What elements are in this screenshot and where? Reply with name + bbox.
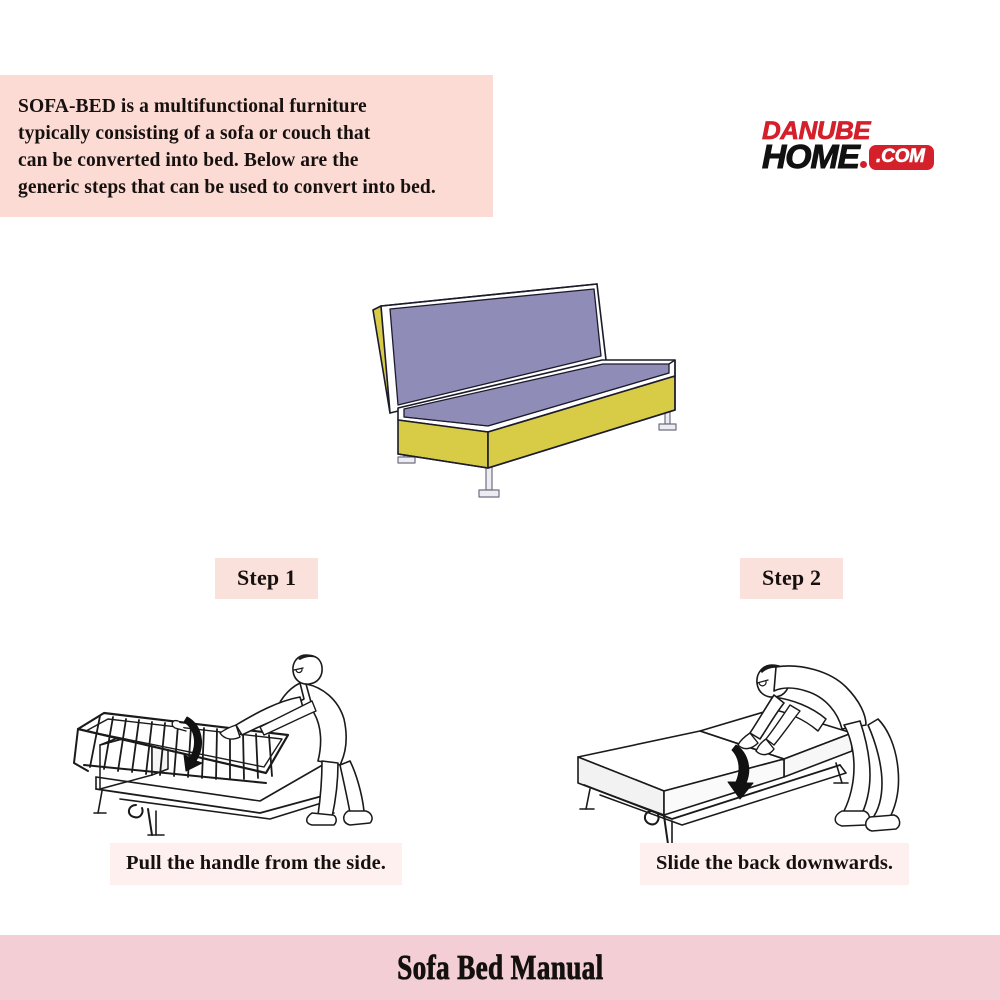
intro-description-text: SOFA-BED is a multifunctional furniture … (0, 93, 493, 201)
danube-home-logo[interactable]: DANUBE HOME .COM (762, 118, 977, 176)
step1-pull-handle-illustration (60, 613, 460, 848)
sofa-bed-open-illustration (340, 268, 710, 513)
manual-page: SOFA-BED is a multifunctional furniture … (0, 0, 1000, 1000)
logo-home-text: HOME (762, 142, 859, 172)
logo-red-dot-icon (860, 161, 867, 168)
intro-description-box: SOFA-BED is a multifunctional furniture … (0, 75, 493, 217)
step-2-badge: Step 2 (740, 558, 843, 599)
step-1-caption: Pull the handle from the side. (110, 843, 402, 885)
logo-second-line: HOME .COM (762, 142, 977, 172)
step-2-caption: Slide the back downwards. (640, 843, 909, 885)
footer-band: Sofa Bed Manual (0, 935, 1000, 1000)
step2-slide-back-illustration (560, 613, 960, 848)
logo-com-badge: .COM (869, 145, 934, 170)
step-1-badge: Step 1 (215, 558, 318, 599)
footer-title: Sofa Bed Manual (397, 948, 603, 988)
